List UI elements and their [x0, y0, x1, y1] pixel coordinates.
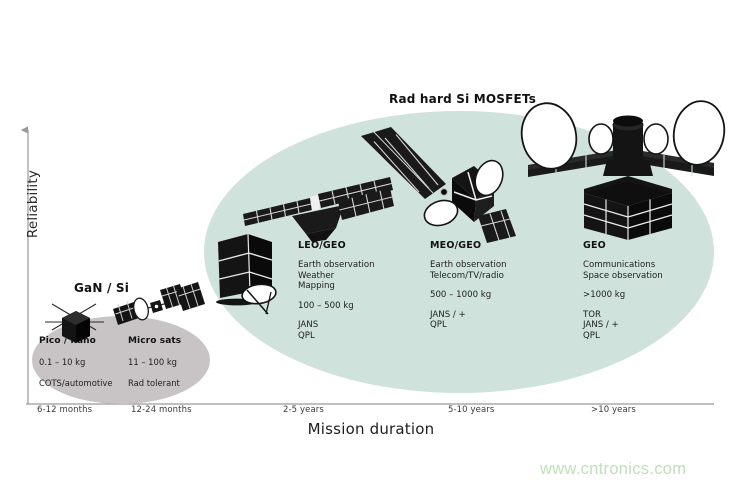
meo-geo-column: MEO/GEO Earth observation Telecom/TV/rad… — [430, 240, 565, 340]
leo-geo-app-2: Weather — [298, 271, 433, 282]
pico-nano-mass: 0.1 – 10 kg — [39, 357, 125, 367]
pico-nano-column: Pico / nano 0.1 – 10 kg COTS/automotive — [39, 336, 125, 399]
y-axis-title: Reliability — [25, 149, 41, 259]
meo-geo-mass: 500 – 1000 kg — [430, 290, 565, 301]
geo-mass: >1000 kg — [583, 290, 718, 301]
meo-geo-heading: MEO/GEO — [430, 240, 565, 251]
rad-hard-region-title: Rad hard Si MOSFETs — [389, 92, 536, 106]
micro-sats-column: Micro sats 11 – 100 kg Rad tolerant — [128, 336, 214, 399]
geo-heading: GEO — [583, 240, 718, 251]
meo-geo-app-1: Earth observation — [430, 260, 565, 271]
x-tick-label-4: 5-10 years — [448, 405, 494, 415]
x-tick-label-3: 2-5 years — [283, 405, 324, 415]
leo-geo-mass: 100 – 500 kg — [298, 301, 433, 312]
meo-geo-qual-2: QPL — [430, 320, 565, 331]
geo-qualifications: TOR JANS / + QPL — [583, 310, 718, 342]
geo-app-2: Space observation — [583, 271, 718, 282]
geo-qual-1: TOR — [583, 310, 718, 321]
geo-qual-3: QPL — [583, 331, 718, 342]
micro-sats-tech: Rad tolerant — [128, 378, 214, 388]
infographic-canvas: Reliability Mission duration 6-12 months… — [0, 0, 742, 494]
x-tick-label-2: 12-24 months — [131, 405, 192, 415]
leo-geo-app-1: Earth observation — [298, 260, 433, 271]
gan-si-region-title: GaN / Si — [74, 281, 129, 295]
x-tick-label-5: >10 years — [591, 405, 636, 415]
pico-nano-heading: Pico / nano — [39, 336, 125, 346]
pico-nano-tech: COTS/automotive — [39, 378, 125, 388]
leo-geo-mass-value: 100 – 500 kg — [298, 301, 433, 312]
meo-geo-qual-1: JANS / + — [430, 310, 565, 321]
leo-geo-app-3: Mapping — [298, 281, 433, 292]
leo-geo-qual-2: QPL — [298, 331, 433, 342]
meo-geo-mass-value: 500 – 1000 kg — [430, 290, 565, 301]
leo-geo-qualifications: JANS QPL — [298, 320, 433, 341]
smallsat-illustration — [216, 234, 277, 314]
meo-geo-app-2: Telecom/TV/radio — [430, 271, 565, 282]
micro-sats-heading: Micro sats — [128, 336, 214, 346]
geo-applications: Communications Space observation — [583, 260, 718, 281]
geo-column: GEO Communications Space observation >10… — [583, 240, 718, 351]
x-axis-title: Mission duration — [0, 420, 742, 438]
meo-geo-applications: Earth observation Telecom/TV/radio — [430, 260, 565, 281]
leo-geo-column: LEO/GEO Earth observation Weather Mappin… — [298, 240, 433, 351]
leo-geo-qual-1: JANS — [298, 320, 433, 331]
meo-geo-qualifications: JANS / + QPL — [430, 310, 565, 331]
x-tick-label-1: 6-12 months — [37, 405, 92, 415]
leo-geo-applications: Earth observation Weather Mapping — [298, 260, 433, 292]
geo-app-1: Communications — [583, 260, 718, 271]
micro-sats-mass: 11 – 100 kg — [128, 357, 214, 367]
geo-mass-value: >1000 kg — [583, 290, 718, 301]
watermark: www.cntronics.com — [540, 460, 686, 479]
leo-geo-heading: LEO/GEO — [298, 240, 433, 251]
geo-qual-2: JANS / + — [583, 320, 718, 331]
